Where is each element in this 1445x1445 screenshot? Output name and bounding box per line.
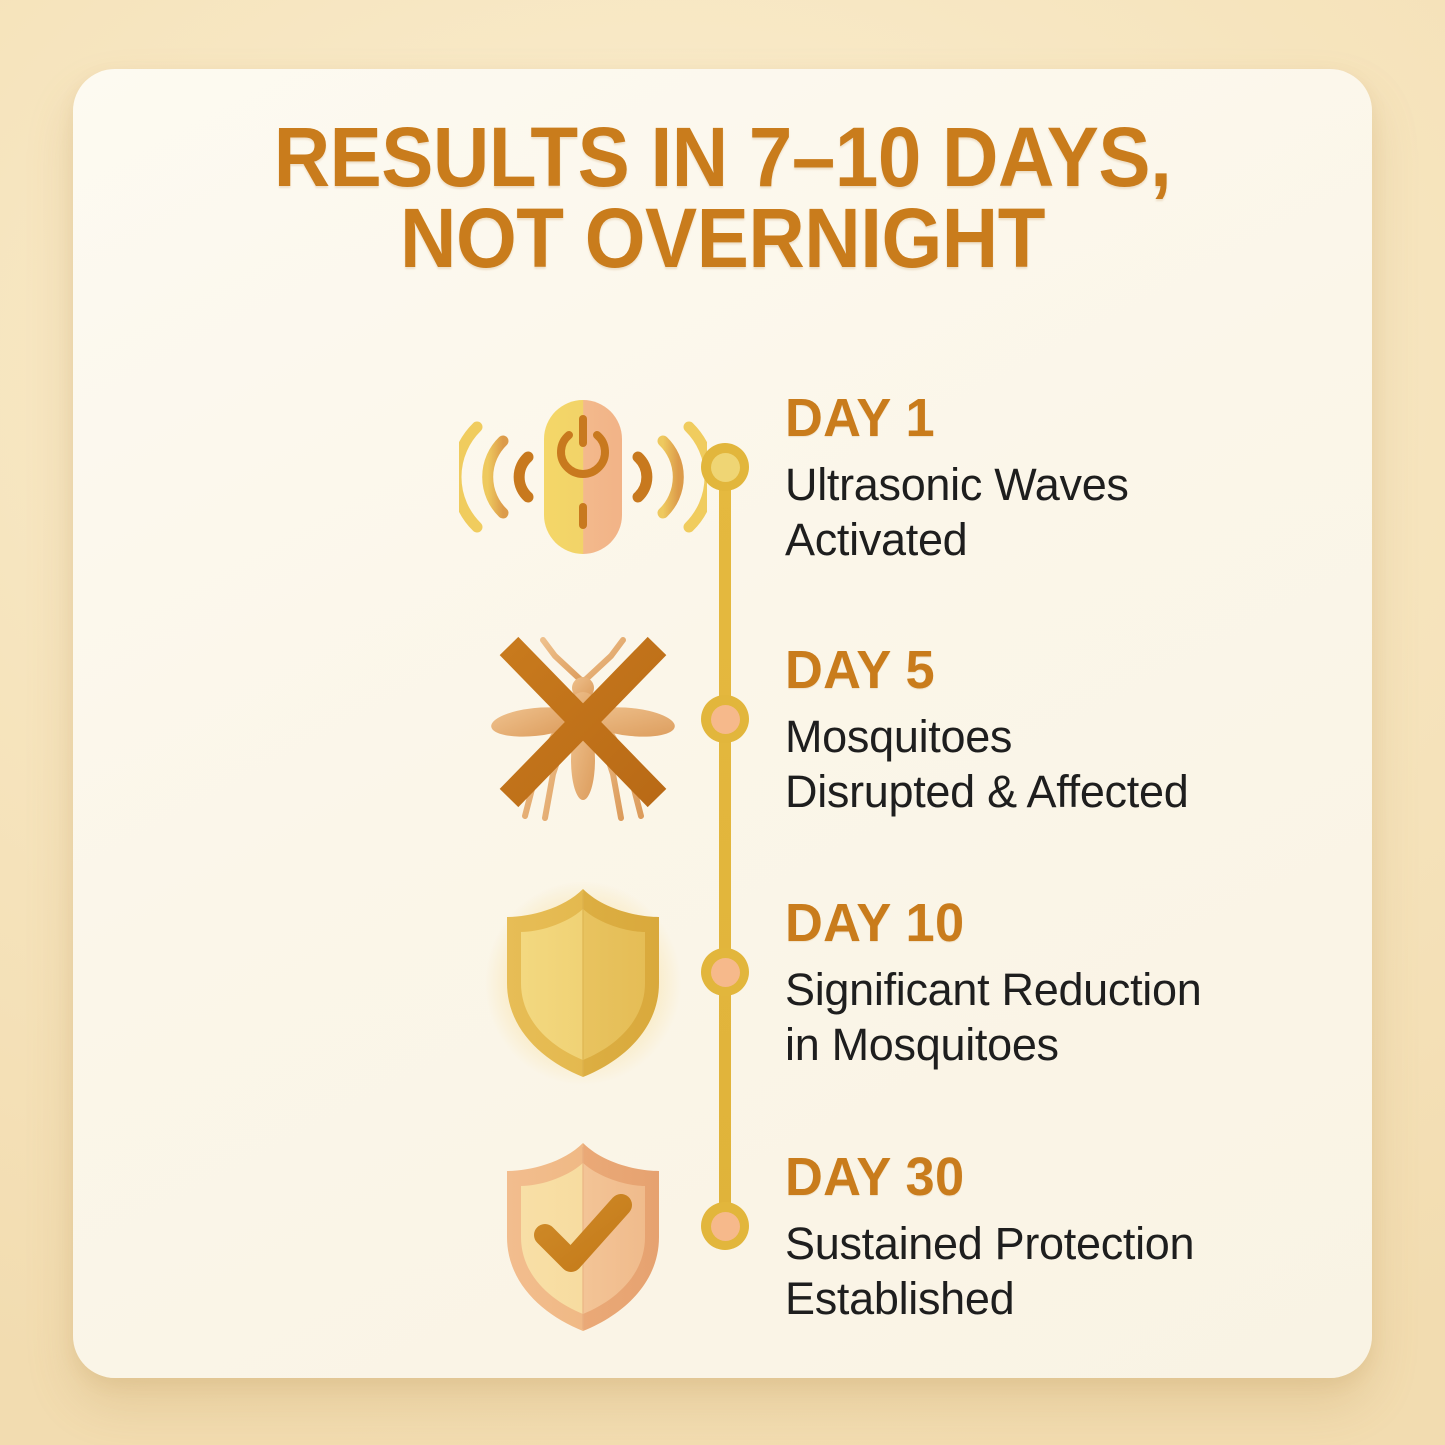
timeline-node [701,695,749,743]
no-mosquito-icon [453,604,713,854]
infographic-card: RESULTS IN 7–10 DAYS, NOT OVERNIGHT [73,69,1372,1378]
timeline-node-core [711,958,740,987]
title-line-2: NOT OVERNIGHT [118,198,1326,279]
day-description: Mosquitoes Disrupted & Affected [785,710,1305,820]
timeline-node-core [711,705,740,734]
timeline-node-core [711,1212,740,1241]
timeline-step-text: DAY 1 Ultrasonic Waves Activated [785,390,1305,568]
timeline-node [701,948,749,996]
timeline-step-text: DAY 5 Mosquitoes Disrupted & Affected [785,642,1305,820]
day-description: Significant Reduction in Mosquitoes [785,963,1305,1073]
day-label: DAY 1 [785,390,1289,446]
timeline-node [701,1202,749,1250]
timeline-step-text: DAY 10 Significant Reduction in Mosquito… [785,895,1305,1073]
timeline-node-core [711,453,740,482]
timeline-step-text: DAY 30 Sustained Protection Established [785,1149,1305,1327]
timeline-step: DAY 30 Sustained Protection Established [73,1111,1372,1361]
timeline: DAY 1 Ultrasonic Waves Activated [73,352,1372,1362]
shield-check-icon [453,1111,713,1361]
page-title: RESULTS IN 7–10 DAYS, NOT OVERNIGHT [73,117,1372,280]
day-description: Sustained Protection Established [785,1217,1305,1327]
timeline-node [701,443,749,491]
title-line-1: RESULTS IN 7–10 DAYS, [118,117,1326,198]
infographic-stage: RESULTS IN 7–10 DAYS, NOT OVERNIGHT [0,0,1445,1445]
timeline-step: DAY 10 Significant Reduction in Mosquito… [73,857,1372,1107]
gold-shield-icon [453,857,713,1107]
ultrasonic-device-icon [453,352,713,602]
day-description: Ultrasonic Waves Activated [785,458,1305,568]
day-label: DAY 30 [785,1149,1289,1205]
timeline-step: DAY 5 Mosquitoes Disrupted & Affected [73,604,1372,854]
timeline-step: DAY 1 Ultrasonic Waves Activated [73,352,1372,602]
day-label: DAY 10 [785,895,1289,951]
day-label: DAY 5 [785,642,1289,698]
